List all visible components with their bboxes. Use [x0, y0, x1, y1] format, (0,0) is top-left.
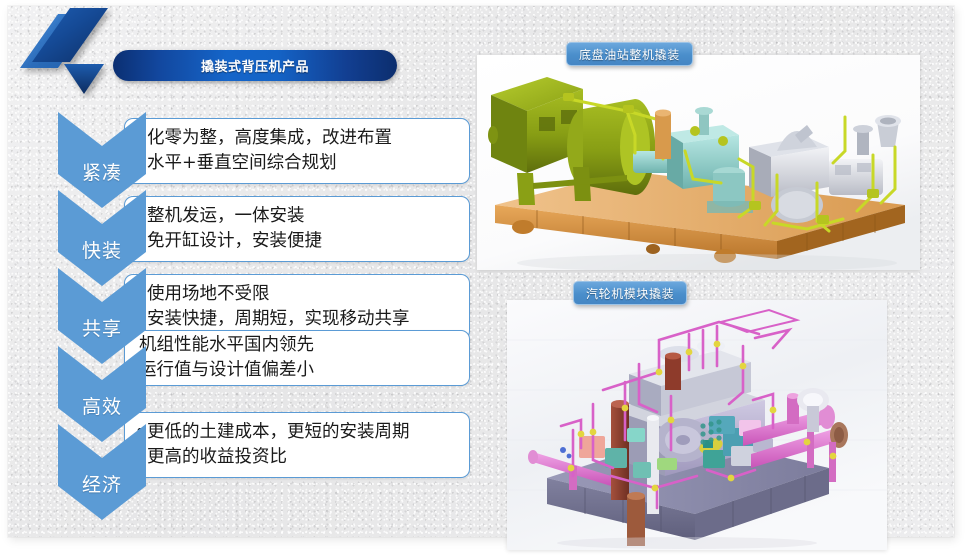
feature-line: •免开缸设计，安装便捷 — [135, 229, 461, 254]
feature-line-text: 更低的土建成本，更短的安装周期 — [147, 420, 410, 445]
feature-line-text: 化零为整，高度集成，改进布置 — [147, 126, 392, 151]
feature-line: •整机发运，一体安装 — [135, 204, 461, 229]
feature-line: 运行值与设计值偏差小 — [135, 358, 461, 383]
feature-line-text: 免开缸设计，安装便捷 — [147, 229, 322, 254]
feature-line: •安装快捷，周期短，实现移动共享 — [135, 307, 461, 332]
feature-line-text: 安装快捷，周期短，实现移动共享 — [147, 307, 410, 332]
feature-card-1: •化零为整，高度集成，改进布置•水平+垂直空间综合规划 — [124, 118, 470, 184]
chevron-label-4: 高效 — [58, 392, 146, 419]
chevron-label-2: 快装 — [58, 236, 146, 263]
photo-caption-top-label: 底盘油站整机撬装 — [579, 46, 680, 63]
feature-line-text: 运行值与设计值偏差小 — [139, 358, 314, 383]
feature-line: •水平+垂直空间综合规划 — [135, 151, 461, 176]
page-title: 撬装式背压机产品 — [201, 56, 309, 75]
feature-line: •更高的收益投资比 — [135, 445, 461, 470]
chevron-label-5: 经济 — [58, 470, 146, 497]
photo-turbine-module — [507, 300, 887, 550]
feature-card-2: •整机发运，一体安装•免开缸设计，安装便捷 — [124, 196, 470, 262]
feature-line-text: 更高的收益投资比 — [147, 445, 287, 470]
chevron-column: 紧凑快装共享高效经济 — [58, 112, 146, 522]
feature-card-4: 机组性能水平国内领先运行值与设计值偏差小 — [124, 330, 470, 386]
feature-line-text: 水平+垂直空间综合规划 — [147, 151, 337, 176]
slide-title-banner: 撬装式背压机产品 — [113, 50, 397, 81]
photo-caption-bottom-label: 汽轮机模块撬装 — [586, 285, 674, 302]
photo-caption-top: 底盘油站整机撬装 — [566, 42, 693, 66]
feature-line-text: 整机发运，一体安装 — [147, 204, 305, 229]
chevron-1: 紧凑 — [58, 112, 146, 230]
skid-mounted-backpressure-turbine-render — [477, 55, 920, 270]
chevron-label-3: 共享 — [58, 314, 146, 341]
photo-caption-bottom: 汽轮机模块撬装 — [573, 281, 687, 305]
feature-card-5: •更低的土建成本，更短的安装周期•更高的收益投资比 — [124, 412, 470, 478]
slide-root: 撬装式背压机产品 紧凑快装共享高效经济 •化零为整，高度集成，改进布置•水平+垂… — [0, 0, 980, 559]
feature-line: •使用场地不受限 — [135, 282, 461, 307]
steam-turbine-module-render — [507, 300, 887, 550]
feature-line: •更低的土建成本，更短的安装周期 — [135, 420, 461, 445]
feature-line-text: 使用场地不受限 — [147, 282, 270, 307]
photo-skid-mounted-unit — [477, 55, 920, 270]
chevron-label-1: 紧凑 — [58, 158, 146, 185]
feature-line: 机组性能水平国内领先 — [135, 333, 461, 358]
feature-line: •化零为整，高度集成，改进布置 — [135, 126, 461, 151]
feature-line-text: 机组性能水平国内领先 — [139, 333, 314, 358]
